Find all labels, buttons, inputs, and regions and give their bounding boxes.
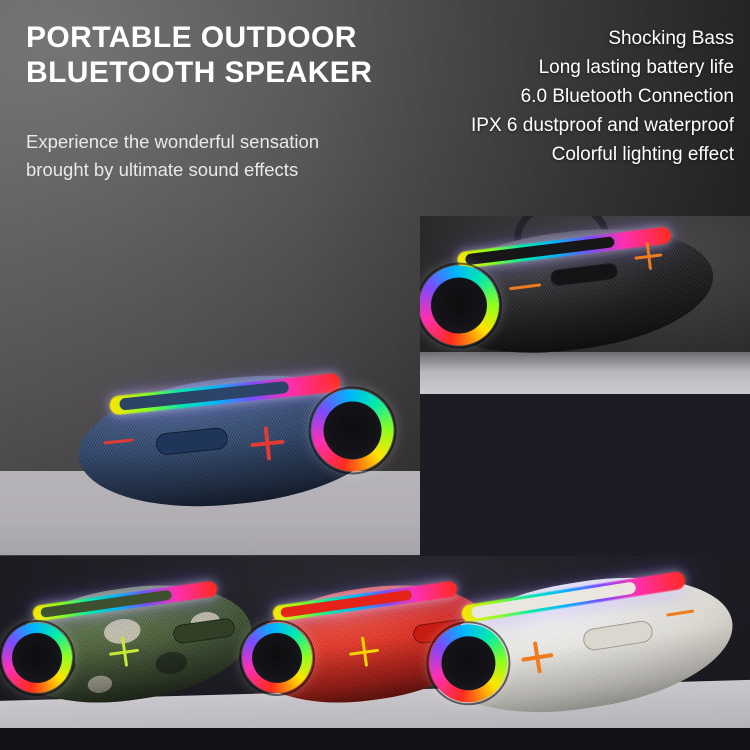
feature-item-lighting: Colorful lighting effect: [334, 140, 734, 169]
volume-up-button-white[interactable]: [519, 639, 556, 676]
feature-list: Shocking Bass Long lasting battery life …: [334, 24, 734, 169]
black-speaker: [420, 216, 720, 367]
feature-item-bass: Shocking Bass: [334, 24, 734, 53]
volume-up-button-blue[interactable]: [249, 425, 286, 462]
feature-item-bluetooth: 6.0 Bluetooth Connection: [334, 82, 734, 111]
volume-up-button-black[interactable]: [633, 240, 664, 271]
bottom-strip: [0, 728, 750, 750]
volume-up-button-camouflage[interactable]: [107, 635, 141, 669]
panel-dark-filler: [420, 394, 750, 556]
feature-item-battery: Long lasting battery life: [334, 53, 734, 82]
product-panel-bottom: [0, 556, 750, 750]
feature-item-waterproof: IPX 6 dustproof and waterproof: [334, 111, 734, 140]
volume-up-button-red[interactable]: [347, 635, 381, 669]
product-panel-black: [420, 216, 750, 396]
advertisement-banner: PORTABLE OUTDOOR BLUETOOTH SPEAKER Exper…: [0, 0, 750, 750]
